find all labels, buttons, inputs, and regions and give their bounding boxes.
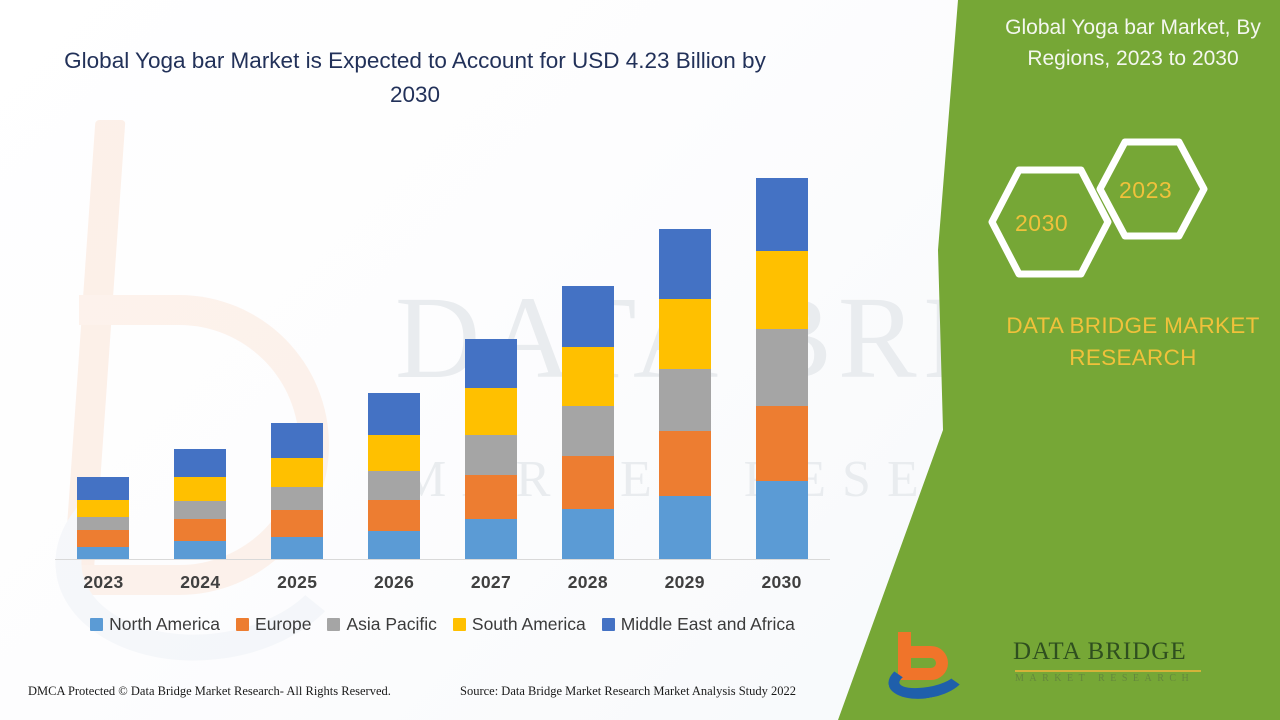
legend-label: Europe bbox=[255, 614, 311, 635]
bar-segment[interactable] bbox=[756, 178, 808, 252]
legend-item[interactable]: North America bbox=[90, 614, 220, 635]
hexagon-label-2030: 2030 bbox=[1015, 210, 1068, 237]
bar-segment[interactable] bbox=[174, 519, 226, 540]
stacked-bar[interactable] bbox=[77, 477, 129, 559]
stacked-bar[interactable] bbox=[271, 423, 323, 559]
bar-segment[interactable] bbox=[562, 509, 614, 559]
bar-segment[interactable] bbox=[271, 423, 323, 458]
bar-segment[interactable] bbox=[562, 406, 614, 456]
bar-segment[interactable] bbox=[174, 477, 226, 501]
bar-segment[interactable] bbox=[174, 501, 226, 519]
bar-segment[interactable] bbox=[562, 286, 614, 347]
bar-segment[interactable] bbox=[77, 530, 129, 546]
legend-swatch-icon bbox=[90, 618, 103, 631]
legend-swatch-icon bbox=[602, 618, 615, 631]
hexagon-label-2023: 2023 bbox=[1119, 177, 1172, 204]
bar-segment[interactable] bbox=[756, 251, 808, 329]
bar-group bbox=[55, 477, 151, 559]
bar-segment[interactable] bbox=[368, 531, 420, 559]
bar-segment[interactable] bbox=[174, 541, 226, 559]
x-axis-label: 2023 bbox=[55, 572, 151, 593]
bar-segment[interactable] bbox=[756, 329, 808, 406]
logo-mark-icon bbox=[888, 630, 998, 700]
x-axis-labels: 20232024202520262027202820292030 bbox=[55, 572, 830, 593]
legend-label: Asia Pacific bbox=[346, 614, 436, 635]
legend-swatch-icon bbox=[453, 618, 466, 631]
bar-segment[interactable] bbox=[271, 537, 323, 559]
chart-legend: North AmericaEuropeAsia PacificSouth Ame… bbox=[55, 614, 830, 635]
x-axis-label: 2029 bbox=[637, 572, 733, 593]
chart-title: Global Yoga bar Market is Expected to Ac… bbox=[60, 44, 770, 112]
infographic-canvas: DATA BRIDGE MARKET RESEARCH Global Yoga … bbox=[0, 0, 1280, 720]
bar-segment[interactable] bbox=[562, 456, 614, 509]
bar-segment[interactable] bbox=[368, 393, 420, 435]
x-axis-label: 2025 bbox=[249, 572, 345, 593]
stacked-bar[interactable] bbox=[756, 178, 808, 559]
bar-segment[interactable] bbox=[368, 471, 420, 500]
bar-group bbox=[346, 393, 442, 559]
legend-item[interactable]: Asia Pacific bbox=[327, 614, 436, 635]
bar-group bbox=[152, 449, 248, 559]
bar-segment[interactable] bbox=[465, 388, 517, 435]
legend-item[interactable]: Middle East and Africa bbox=[602, 614, 795, 635]
bar-segment[interactable] bbox=[271, 487, 323, 509]
bar-series-container bbox=[55, 150, 830, 559]
bar-segment[interactable] bbox=[271, 510, 323, 537]
bar-segment[interactable] bbox=[368, 435, 420, 471]
x-axis-label: 2026 bbox=[346, 572, 442, 593]
x-axis-label: 2030 bbox=[734, 572, 830, 593]
bar-segment[interactable] bbox=[77, 477, 129, 499]
footer-copyright: DMCA Protected © Data Bridge Market Rese… bbox=[28, 684, 391, 699]
bar-group bbox=[637, 229, 733, 559]
legend-label: Middle East and Africa bbox=[621, 614, 795, 635]
logo-wordmark: DATA BRIDGE bbox=[1013, 638, 1187, 666]
plot-area bbox=[55, 150, 830, 560]
bar-segment[interactable] bbox=[77, 500, 129, 517]
x-axis-line bbox=[55, 559, 830, 560]
bar-group bbox=[734, 178, 830, 559]
logo-divider bbox=[1015, 670, 1201, 672]
bar-segment[interactable] bbox=[659, 431, 711, 495]
bar-segment[interactable] bbox=[271, 458, 323, 488]
bar-segment[interactable] bbox=[465, 475, 517, 519]
bar-group bbox=[249, 423, 345, 559]
stacked-bar[interactable] bbox=[174, 449, 226, 559]
data-bridge-logo: DATA BRIDGE MARKET RESEARCH bbox=[1048, 630, 1258, 700]
bar-group bbox=[443, 339, 539, 559]
hexagon-badges: 2030 2023 bbox=[988, 138, 1248, 288]
bar-segment[interactable] bbox=[465, 435, 517, 475]
bar-segment[interactable] bbox=[465, 339, 517, 388]
x-axis-label: 2028 bbox=[540, 572, 636, 593]
bar-segment[interactable] bbox=[756, 481, 808, 559]
legend-swatch-icon bbox=[236, 618, 249, 631]
legend-swatch-icon bbox=[327, 618, 340, 631]
bar-segment[interactable] bbox=[659, 369, 711, 431]
bar-segment[interactable] bbox=[562, 347, 614, 405]
logo-tagline: MARKET RESEARCH bbox=[1015, 673, 1194, 684]
bar-segment[interactable] bbox=[659, 496, 711, 559]
bar-segment[interactable] bbox=[77, 547, 129, 559]
bar-segment[interactable] bbox=[756, 406, 808, 482]
legend-label: South America bbox=[472, 614, 586, 635]
bar-segment[interactable] bbox=[465, 519, 517, 559]
legend-label: North America bbox=[109, 614, 220, 635]
bar-segment[interactable] bbox=[174, 449, 226, 478]
footer: DMCA Protected © Data Bridge Market Rese… bbox=[0, 684, 860, 710]
bar-segment[interactable] bbox=[368, 500, 420, 532]
panel-brand-name: DATA BRIDGE MARKET RESEARCH bbox=[988, 310, 1278, 374]
legend-item[interactable]: South America bbox=[453, 614, 586, 635]
bar-segment[interactable] bbox=[77, 517, 129, 530]
bar-segment[interactable] bbox=[659, 229, 711, 300]
chart-panel: DATA BRIDGE MARKET RESEARCH Global Yoga … bbox=[0, 0, 975, 720]
stacked-bar[interactable] bbox=[659, 229, 711, 559]
x-axis-label: 2027 bbox=[443, 572, 539, 593]
bar-group bbox=[540, 286, 636, 559]
footer-source: Source: Data Bridge Market Research Mark… bbox=[460, 684, 796, 699]
panel-title: Global Yoga bar Market, By Regions, 2023… bbox=[998, 12, 1268, 74]
bar-segment[interactable] bbox=[659, 299, 711, 369]
stacked-bar[interactable] bbox=[562, 286, 614, 559]
legend-item[interactable]: Europe bbox=[236, 614, 311, 635]
stacked-bar[interactable] bbox=[465, 339, 517, 559]
stacked-bar[interactable] bbox=[368, 393, 420, 559]
x-axis-label: 2024 bbox=[152, 572, 248, 593]
